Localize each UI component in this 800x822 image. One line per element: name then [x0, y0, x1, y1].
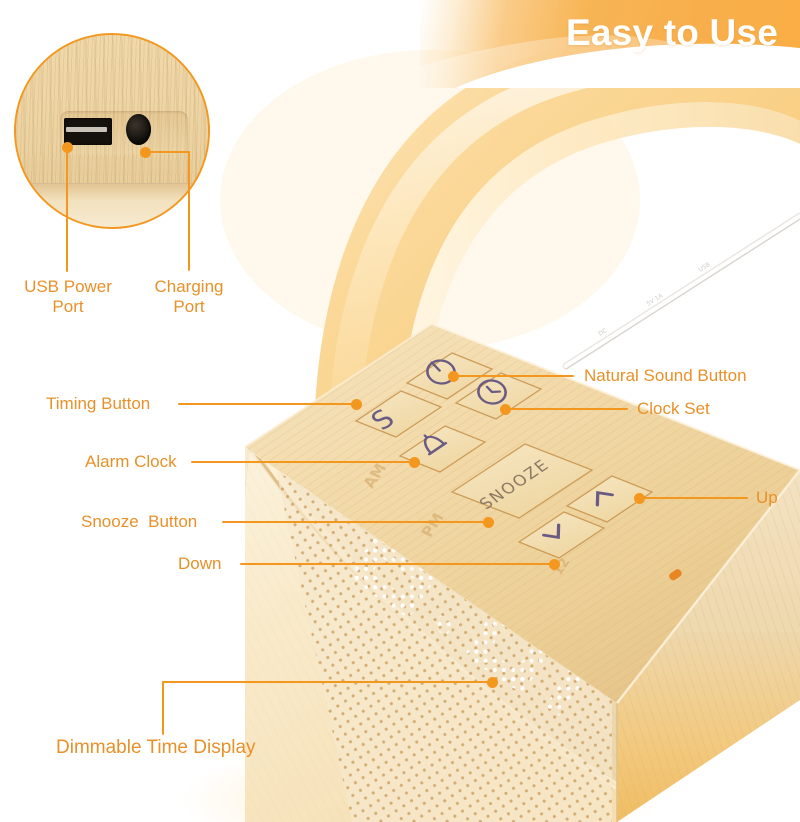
up-button-label: Up	[756, 488, 778, 508]
snooze-button-label: Snooze Button	[81, 512, 197, 532]
snooze-button-dot	[483, 517, 494, 528]
down-button-leader	[240, 563, 554, 565]
down-button-dot	[549, 559, 560, 570]
svg-text:5V 1A: 5V 1A	[645, 292, 665, 308]
dimmable-time-display-dot	[487, 677, 498, 688]
charging-port-label: Charging Port	[124, 277, 254, 317]
svg-text:PM: PM	[417, 510, 448, 539]
infographic-canvas: USB 5V 1A DC	[0, 0, 800, 822]
svg-text:SNOOZE: SNOOZE	[475, 456, 553, 513]
clock-set-label: Clock Set	[637, 399, 710, 419]
usb-power-port	[64, 118, 112, 145]
natural-sound-button-label: Natural Sound Button	[584, 366, 747, 386]
charging-port	[126, 114, 151, 145]
svg-text:S: S	[365, 404, 401, 436]
dimmable-time-display-leader-h	[162, 681, 492, 683]
svg-text:DC: DC	[597, 327, 608, 338]
clock-set-leader	[509, 408, 628, 410]
natural-sound-button-leader	[457, 375, 574, 377]
port-detail-closeup	[14, 33, 210, 229]
timing-button-dot	[351, 399, 362, 410]
dimmable-time-display-leader-v	[162, 681, 164, 735]
timing-button-label: Timing Button	[46, 394, 150, 414]
down-button-label: Down	[178, 554, 221, 574]
alarm-clock-leader	[191, 461, 414, 463]
banner-title: Easy to Use	[566, 12, 778, 54]
alarm-clock-dot	[409, 457, 420, 468]
lower-wood-face	[14, 183, 210, 229]
svg-text:USB: USB	[697, 261, 711, 273]
dimmable-time-display-label: Dimmable Time Display	[56, 737, 256, 759]
alarm-clock-label: Alarm Clock	[85, 452, 177, 472]
svg-text:AM: AM	[359, 461, 390, 491]
snooze-button-leader	[222, 521, 488, 523]
usb-power-port-label: USB Power Port	[0, 277, 136, 317]
timing-button-leader	[178, 403, 356, 405]
up-button-leader	[643, 497, 748, 499]
header-banner: Easy to Use	[420, 0, 800, 88]
